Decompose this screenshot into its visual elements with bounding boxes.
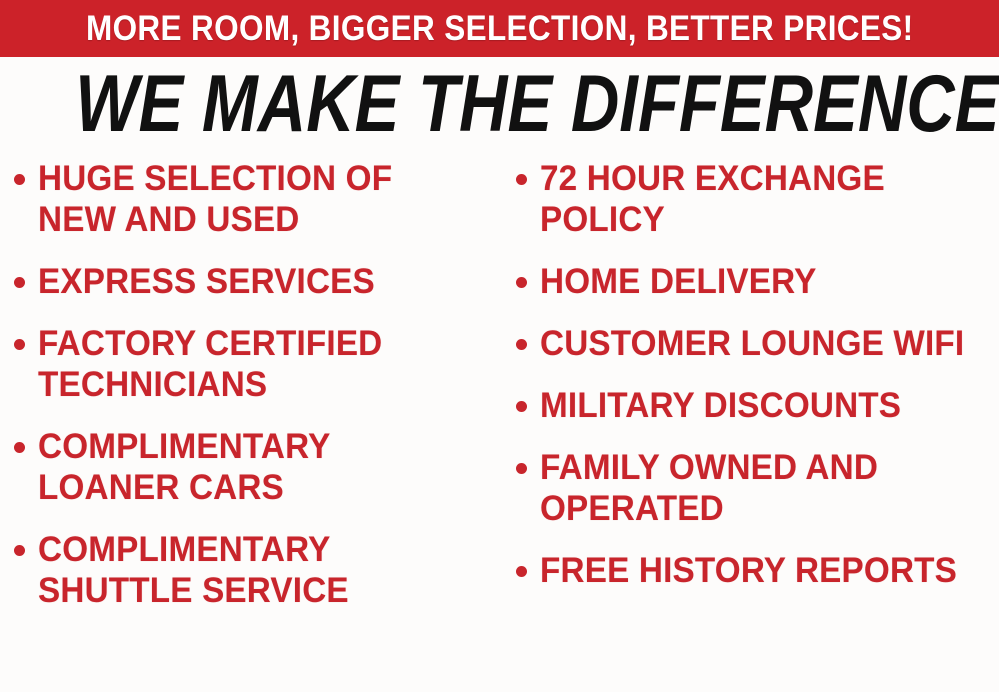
- list-item: CUSTOMER LOUNGE WIFI: [516, 323, 999, 364]
- list-item: FAMILY OWNED AND OPERATED: [516, 447, 999, 529]
- list-item-label: FACTORY CERTIFIED TECHNICIANS: [38, 323, 447, 405]
- list-item-label: COMPLIMENTARY LOANER CARS: [38, 426, 447, 508]
- list-item: COMPLIMENTARY SHUTTLE SERVICE: [14, 529, 500, 611]
- page-title-text: WE MAKE THE DIFFERENCE: [75, 62, 999, 143]
- list-item-label: 72 HOUR EXCHANGE POLICY: [540, 158, 972, 240]
- bullet-dot-icon: [516, 401, 527, 412]
- list-item: MILITARY DISCOUNTS: [516, 385, 999, 426]
- features-section: HUGE SELECTION OF NEW AND USED EXPRESS S…: [0, 158, 999, 692]
- promo-banner-text: MORE ROOM, BIGGER SELECTION, BETTER PRIC…: [86, 11, 914, 46]
- bullet-dot-icon: [516, 339, 527, 350]
- feature-list-right: 72 HOUR EXCHANGE POLICY HOME DELIVERY CU…: [500, 158, 999, 612]
- list-item-label: COMPLIMENTARY SHUTTLE SERVICE: [38, 529, 447, 611]
- list-item-label: HOME DELIVERY: [540, 261, 817, 302]
- list-item: EXPRESS SERVICES: [14, 261, 500, 302]
- promo-banner: MORE ROOM, BIGGER SELECTION, BETTER PRIC…: [0, 0, 999, 57]
- list-item-label: EXPRESS SERVICES: [38, 261, 375, 302]
- feature-list-left: HUGE SELECTION OF NEW AND USED EXPRESS S…: [0, 158, 500, 632]
- list-item: COMPLIMENTARY LOANER CARS: [14, 426, 500, 508]
- page-title: WE MAKE THE DIFFERENCE: [0, 64, 999, 142]
- list-item-label: FAMILY OWNED AND OPERATED: [540, 447, 972, 529]
- bullet-dot-icon: [14, 277, 25, 288]
- list-item: FREE HISTORY REPORTS: [516, 550, 999, 591]
- list-item: 72 HOUR EXCHANGE POLICY: [516, 158, 999, 240]
- list-item-label: HUGE SELECTION OF NEW AND USED: [38, 158, 447, 240]
- list-item-label: MILITARY DISCOUNTS: [540, 385, 901, 426]
- bullet-dot-icon: [14, 174, 25, 185]
- bullet-dot-icon: [14, 339, 25, 350]
- list-item-label: CUSTOMER LOUNGE WIFI: [540, 323, 964, 364]
- list-item: HUGE SELECTION OF NEW AND USED: [14, 158, 500, 240]
- bullet-dot-icon: [516, 277, 527, 288]
- bullet-dot-icon: [516, 174, 527, 185]
- list-item: FACTORY CERTIFIED TECHNICIANS: [14, 323, 500, 405]
- bullet-dot-icon: [516, 463, 527, 474]
- list-item-label: FREE HISTORY REPORTS: [540, 550, 957, 591]
- bullet-dot-icon: [14, 545, 25, 556]
- bullet-dot-icon: [516, 566, 527, 577]
- list-item: HOME DELIVERY: [516, 261, 999, 302]
- bullet-dot-icon: [14, 442, 25, 453]
